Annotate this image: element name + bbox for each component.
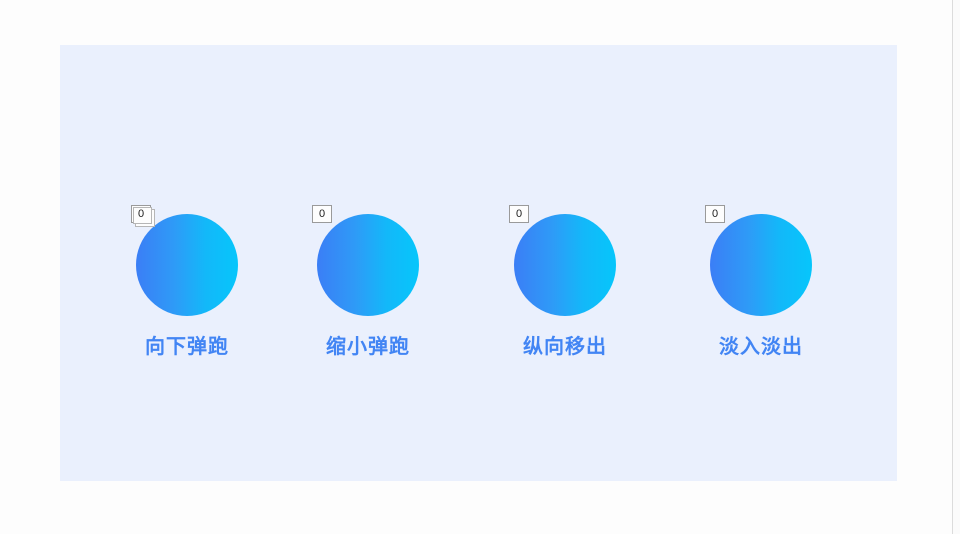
right-scroll-gutter[interactable] [953, 0, 960, 534]
animated-circle[interactable] [136, 214, 238, 316]
counter-badge[interactable]: 0 [312, 205, 332, 223]
animation-label: 缩小弹跑 [268, 330, 468, 359]
counter-badge[interactable]: 0 [705, 205, 725, 223]
animated-circle[interactable] [710, 214, 812, 316]
animation-demo-cell[interactable]: 0 缩小弹跑 [268, 202, 468, 402]
animation-label: 纵向移出 [465, 330, 665, 359]
animated-circle[interactable] [514, 214, 616, 316]
counter-badge[interactable]: 0 [509, 205, 529, 223]
animation-demo-cell[interactable]: 0 淡入淡出 [661, 202, 861, 402]
animation-label: 淡入淡出 [661, 330, 861, 359]
animation-label: 向下弹跑 [87, 330, 287, 359]
animation-demo-cell[interactable]: 0 纵向移出 [465, 202, 665, 402]
counter-badge[interactable]: 0 [131, 205, 151, 223]
animation-demo-panel: 0 向下弹跑 0 缩小弹跑 0 纵向移出 0 淡入淡出 [60, 45, 897, 481]
page-root: { "page": { "background_color": "#fdfdfd… [0, 0, 960, 534]
animation-demo-row: 0 向下弹跑 0 缩小弹跑 0 纵向移出 0 淡入淡出 [60, 45, 897, 481]
animation-demo-cell[interactable]: 0 向下弹跑 [87, 202, 287, 402]
animated-circle[interactable] [317, 214, 419, 316]
right-divider-line [952, 0, 953, 534]
